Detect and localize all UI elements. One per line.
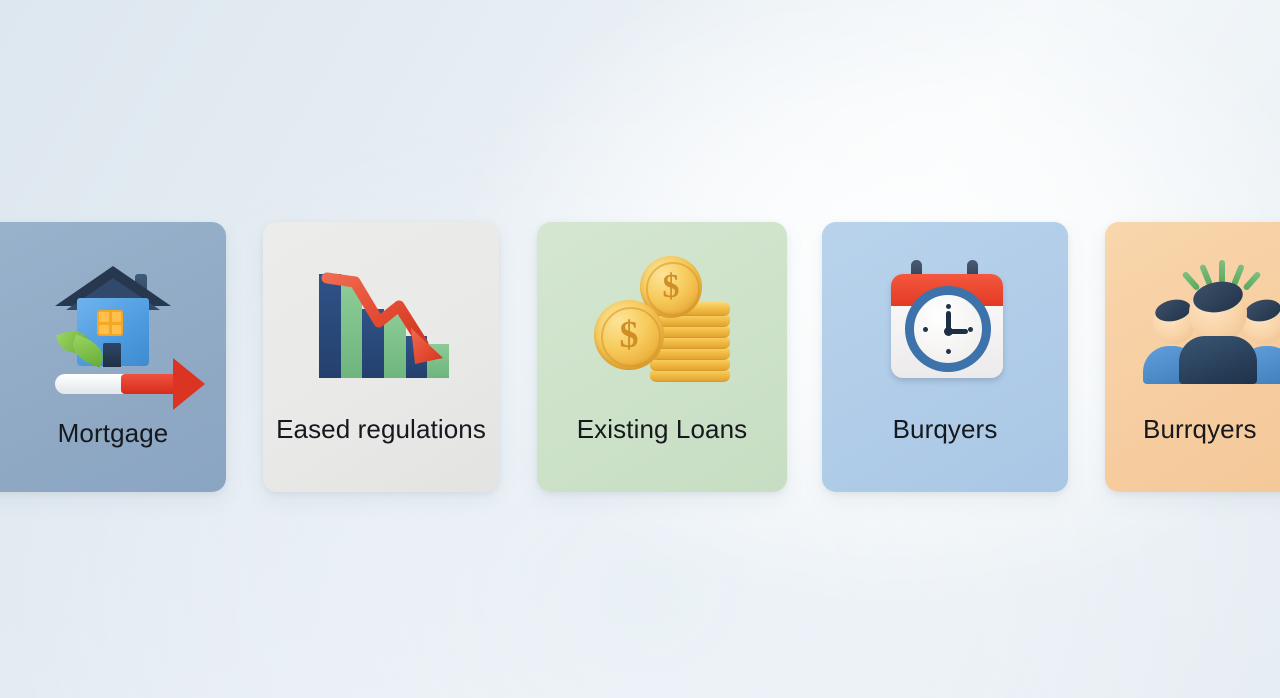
card-mortgage-content: Mortgage — [0, 222, 226, 492]
card-existing-loans-content: $ $ Existing Loans — [537, 222, 787, 492]
card-label-existing-loans: Existing Loans — [577, 416, 748, 442]
people-graphic — [1143, 262, 1280, 387]
clock-marker-dot — [968, 327, 973, 332]
calendar-clock-icon — [865, 244, 1025, 404]
house-graphic — [55, 258, 173, 370]
dollar-coin-icon: $ — [594, 300, 664, 370]
house-growth-arrow-icon — [33, 248, 193, 408]
clock-marker-dot — [946, 349, 951, 354]
dollar-symbol: $ — [663, 268, 680, 306]
card-mortgage[interactable]: Mortgage — [0, 222, 226, 492]
card-burrqyers-content: Burrqyers — [1105, 222, 1280, 492]
card-label-burqyers: Burqyers — [893, 416, 998, 442]
clock-center-pin — [944, 327, 953, 336]
coins-graphic: $ $ — [592, 256, 740, 386]
card-label-eased-regulations: Eased regulations — [276, 416, 486, 442]
group-of-people-icon — [1143, 244, 1280, 404]
arrow-shaft — [121, 374, 181, 394]
ray-icon — [1181, 271, 1200, 291]
calendar-clock-graphic — [883, 256, 1011, 386]
icon-card-row: Mortgage — [0, 0, 1280, 698]
bar-chart-graphic — [319, 266, 449, 378]
card-label-mortgage: Mortgage — [58, 420, 169, 446]
ray-icon — [1242, 271, 1261, 291]
declining-arrow-icon — [319, 266, 459, 382]
clock-marker-dot — [923, 327, 928, 332]
card-existing-loans[interactable]: $ $ Existing Loans — [537, 222, 787, 492]
card-eased-regulations[interactable]: Eased regulations — [263, 222, 499, 492]
card-burqyers-content: Burqyers — [822, 222, 1068, 492]
person-body — [1179, 336, 1257, 384]
dollar-symbol: $ — [620, 313, 639, 357]
window-pane — [112, 312, 122, 322]
card-eased-regulations-content: Eased regulations — [263, 222, 499, 492]
window-pane — [99, 325, 109, 335]
clock-marker-dot — [946, 304, 951, 309]
house-door — [103, 343, 121, 367]
clock-face — [905, 286, 991, 372]
window-pane — [99, 312, 109, 322]
ray-icon — [1219, 260, 1225, 284]
card-burrqyers[interactable]: Burrqyers — [1105, 222, 1280, 492]
arrow-right-icon — [173, 358, 205, 410]
house-window — [97, 310, 123, 336]
declining-bar-chart-icon — [301, 244, 461, 404]
window-pane — [112, 325, 122, 335]
card-burqyers[interactable]: Burqyers — [822, 222, 1068, 492]
card-label-burrqyers: Burrqyers — [1143, 416, 1257, 442]
gold-coins-stack-icon: $ $ — [582, 244, 742, 404]
